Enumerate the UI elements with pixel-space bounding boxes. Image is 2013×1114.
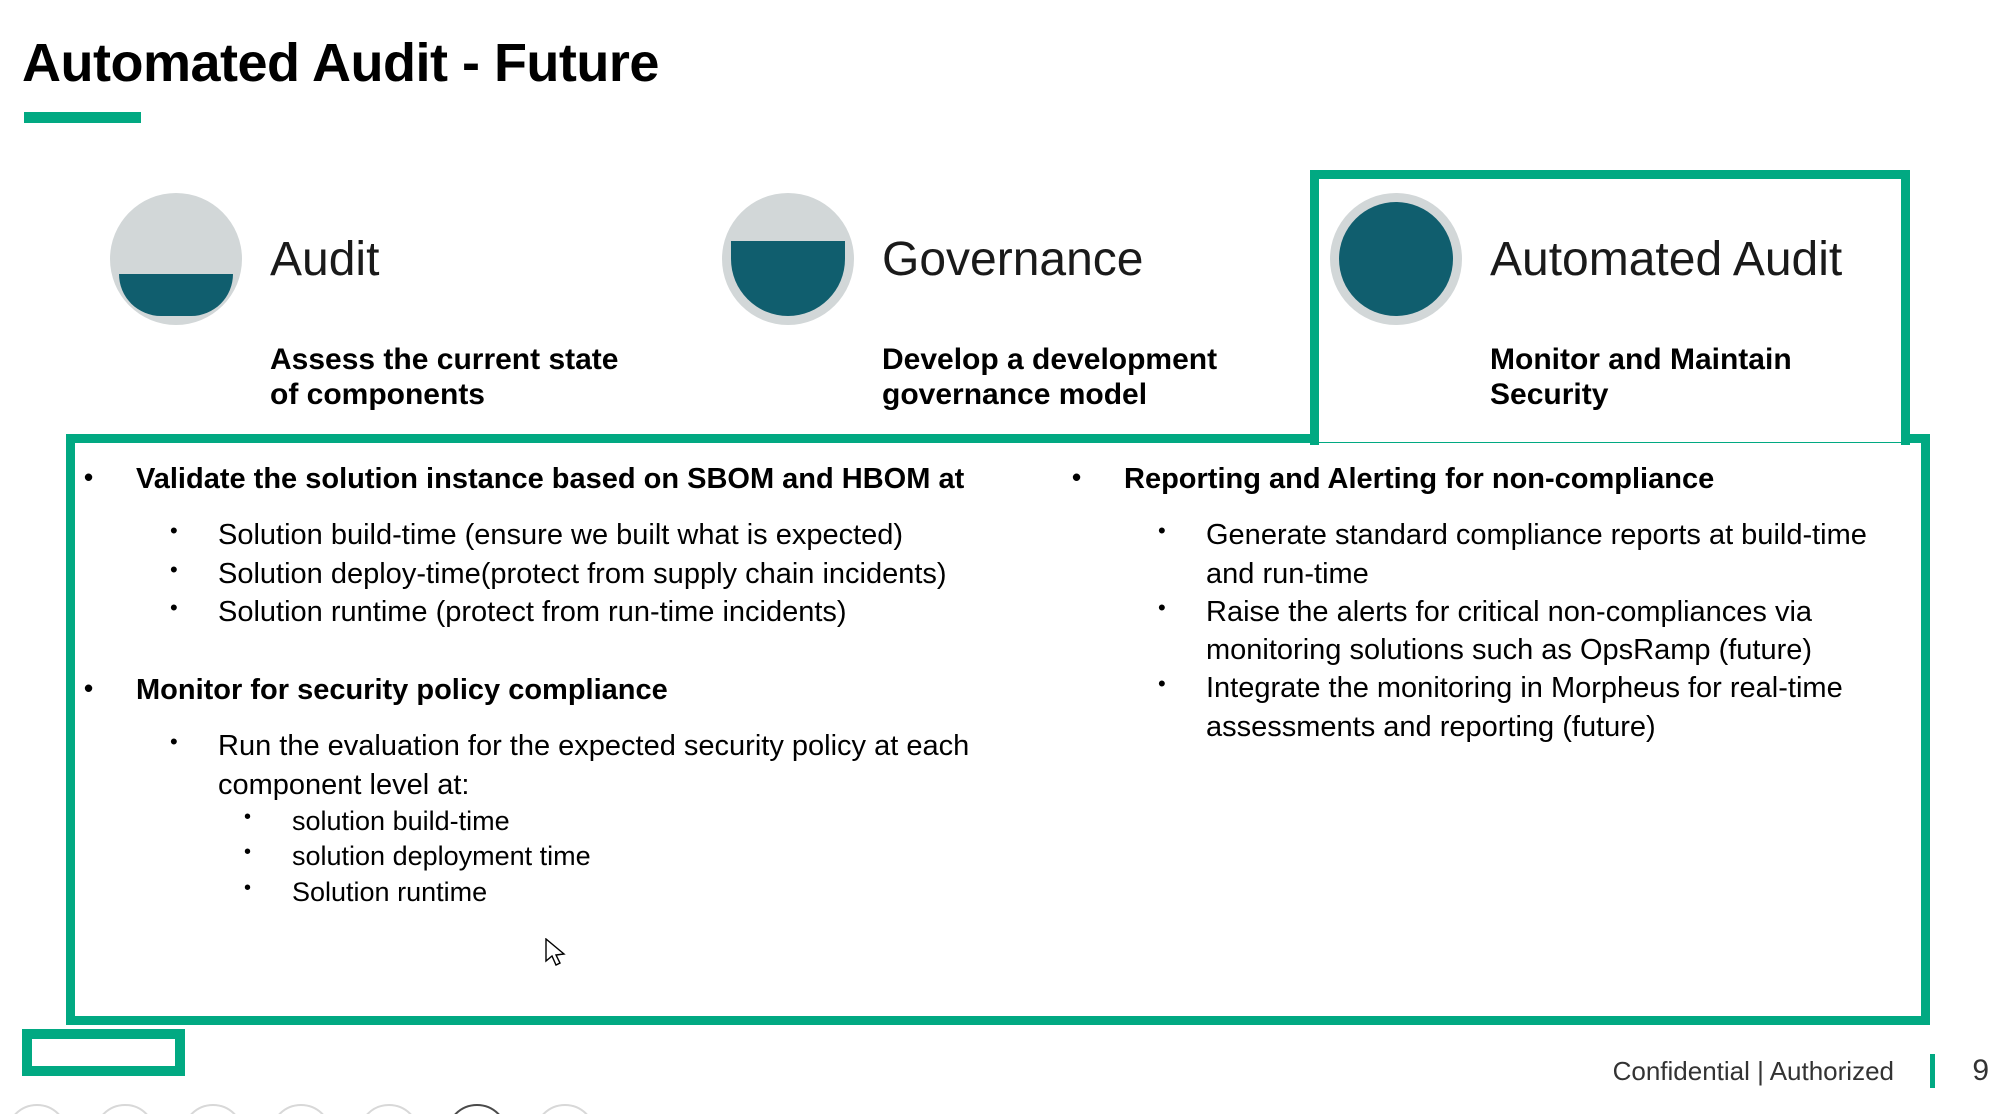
stage-governance-head: Governance — [722, 193, 1217, 325]
hpe-logo-icon — [22, 1029, 185, 1076]
bullet-level3: Solution runtime — [84, 875, 1044, 911]
details-column-left: Validate the solution instance based on … — [84, 460, 1044, 911]
stage-audit-head: Audit — [110, 193, 619, 325]
bullet-level2: Raise the alerts for critical non-compli… — [1072, 593, 1922, 670]
bullet-level1: Monitor for security policy compliance — [84, 671, 1044, 709]
details-column-right: Reporting and Alerting for non-complianc… — [1072, 460, 1922, 746]
gauge-fill-governance — [731, 241, 845, 316]
stage-automated-audit-label: Automated Audit — [1490, 232, 1842, 287]
stage-automated-audit-subtitle: Monitor and Maintain Security — [1490, 343, 1842, 412]
stage-governance: Governance Develop a development governa… — [722, 193, 1217, 412]
more-options-button[interactable]: ⋯ — [358, 1104, 420, 1114]
gauge-icon-audit — [110, 193, 242, 325]
bullet-level3: solution deployment time — [84, 839, 1044, 875]
page-number: 9 — [1963, 1054, 1989, 1088]
gauge-fill-audit — [119, 274, 233, 316]
spacer — [1072, 498, 1922, 516]
stage-governance-label: Governance — [882, 232, 1144, 287]
share-screen-button[interactable]: ▤ — [182, 1104, 244, 1114]
gauge-fill-automated-audit — [1339, 202, 1453, 316]
stage-audit-label: Audit — [270, 232, 379, 287]
leave-call-button[interactable] — [534, 1104, 596, 1114]
page-title: Automated Audit - Future — [22, 32, 659, 94]
stage-automated-audit: Automated Audit Monitor and Maintain Sec… — [1330, 193, 1842, 412]
bullet-level2: Run the evaluation for the expected secu… — [84, 727, 1044, 804]
bullet-level3: solution build-time — [84, 804, 1044, 840]
bullet-level1: Reporting and Alerting for non-complianc… — [1072, 460, 1922, 498]
reactions-button[interactable]: ☺ — [270, 1104, 332, 1114]
bullet-level2: Solution build-time (ensure we built wha… — [84, 516, 1044, 554]
spacer — [84, 631, 1044, 671]
stage-automated-audit-head: Automated Audit — [1330, 193, 1842, 325]
mic-button[interactable] — [6, 1104, 68, 1114]
bullet-level2: Solution deploy-time(protect from supply… — [84, 555, 1044, 593]
stage-audit: Audit Assess the current state of compon… — [110, 193, 619, 412]
confidentiality-notice: Confidential | Authorized — [1613, 1056, 1894, 1087]
spacer — [84, 498, 1044, 516]
gauge-icon-automated-audit — [1330, 193, 1462, 325]
camera-button[interactable] — [94, 1104, 156, 1114]
raise-hand-button[interactable] — [446, 1104, 508, 1114]
stage-audit-subtitle: Assess the current state of components — [270, 343, 619, 412]
mouse-cursor-icon — [545, 938, 567, 968]
bullet-level2: Solution runtime (protect from run-time … — [84, 593, 1044, 631]
footer: Confidential | Authorized 9 — [1613, 1054, 1989, 1088]
bullet-level2: Generate standard compliance reports at … — [1072, 516, 1922, 593]
bullet-level2: Integrate the monitoring in Morpheus for… — [1072, 669, 1922, 746]
footer-divider — [1930, 1054, 1935, 1088]
spacer — [84, 709, 1044, 727]
meeting-toolbar: ▤ ☺ ⋯ — [0, 1104, 596, 1114]
slide-canvas: Automated Audit - Future Audit Assess th… — [0, 0, 2013, 1114]
highlight-box-join-patch — [1319, 430, 1901, 442]
gauge-icon-governance — [722, 193, 854, 325]
bullet-level1: Validate the solution instance based on … — [84, 460, 1044, 498]
title-underline-rule — [24, 112, 141, 123]
stage-governance-subtitle: Develop a development governance model — [882, 343, 1217, 412]
